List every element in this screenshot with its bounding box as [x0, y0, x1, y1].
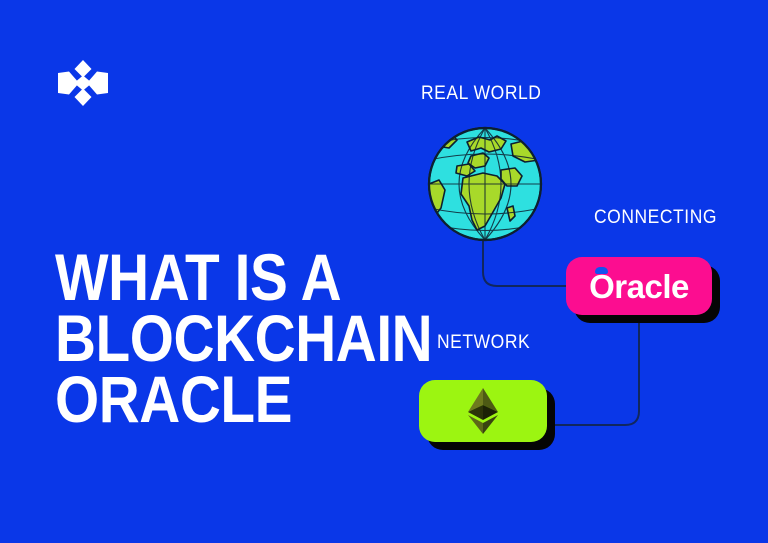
oracle-card-label-wrap: Oracle [589, 270, 689, 303]
poster-canvas: WHAT IS A BLOCKCHAIN ORACLE REAL WORLD C… [0, 0, 768, 543]
page-title: WHAT IS A BLOCKCHAIN ORACLE [55, 247, 339, 429]
x-asterisk-logo [58, 60, 108, 106]
ethereum-logo-icon [468, 388, 498, 434]
connector-oracle-to-network [547, 315, 639, 425]
connector-globe-to-oracle [483, 240, 566, 286]
caption-connecting: CONNECTING [594, 207, 717, 229]
caption-real-world: REAL WORLD [421, 83, 541, 105]
headline-line-1: WHAT IS A [55, 247, 339, 308]
headline-line-2: BLOCKCHAIN [55, 308, 339, 369]
oracle-card[interactable]: Oracle [566, 257, 712, 315]
globe-earth-icon [427, 126, 543, 242]
headline-line-3: ORACLE [55, 369, 339, 430]
cursor-mark-icon [595, 267, 608, 274]
network-card[interactable] [419, 380, 547, 442]
caption-network: NETWORK [437, 332, 530, 354]
